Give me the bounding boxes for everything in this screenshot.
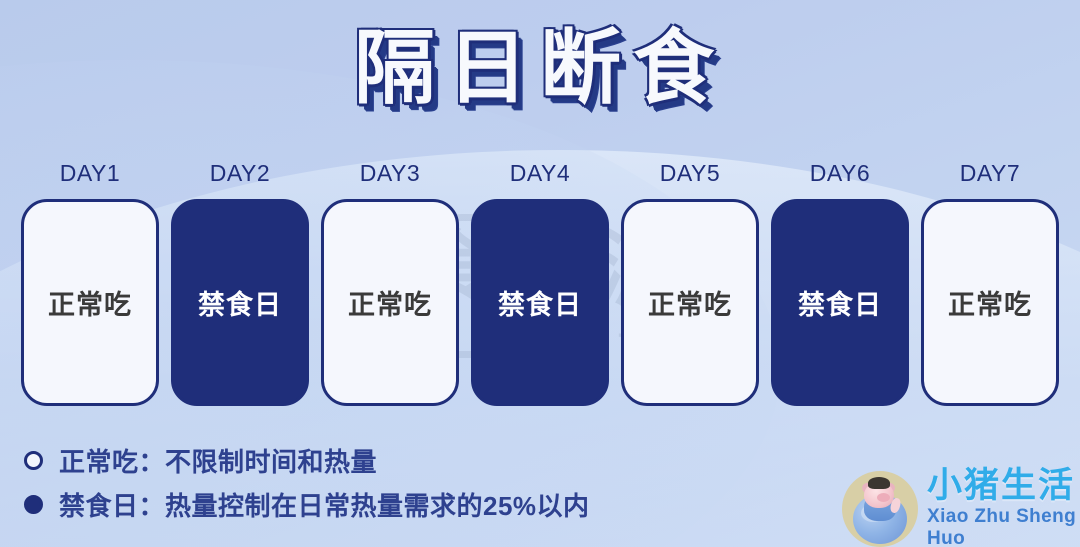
day-column-4: DAY4 禁食日: [471, 160, 609, 406]
day-label: DAY6: [810, 160, 870, 187]
day-card-normal[interactable]: 正常吃: [21, 199, 159, 406]
day-column-2: DAY2 禁食日: [171, 160, 309, 406]
day-column-3: DAY3 正常吃: [321, 160, 459, 406]
day-column-6: DAY6 禁食日: [771, 160, 909, 406]
brand-name-group: 小猪生活 Xiao Zhu Sheng Huo: [927, 468, 1080, 547]
day-card-normal[interactable]: 正常吃: [621, 199, 759, 406]
day-card-fast[interactable]: 禁食日: [171, 199, 309, 406]
day-label: DAY1: [60, 160, 120, 187]
brand-logo[interactable]: 小猪生活 Xiao Zhu Sheng Huo: [842, 468, 1080, 547]
day-column-1: DAY1 正常吃: [21, 160, 159, 406]
day-label: DAY4: [510, 160, 570, 187]
brand-name-cn: 小猪生活: [927, 468, 1080, 505]
day-label: DAY2: [210, 160, 270, 187]
day-column-5: DAY5 正常吃: [621, 160, 759, 406]
brand-name-en: Xiao Zhu Sheng Huo: [927, 506, 1080, 547]
day-column-7: DAY7 正常吃: [921, 160, 1059, 406]
legend: 正常吃：不限制时间和热量 禁食日：热量控制在日常热量需求的25%以内: [24, 438, 590, 526]
legend-text: 禁食日：热量控制在日常热量需求的25%以内: [59, 486, 590, 523]
pig-hair-shape: [868, 477, 890, 489]
weekly-schedule: DAY1 正常吃 DAY2 禁食日 DAY3 正常吃 DAY4 禁食日 DAY5…: [21, 160, 1059, 406]
day-card-normal[interactable]: 正常吃: [321, 199, 459, 406]
page-title: 隔日断食: [0, 24, 1080, 115]
day-label: DAY7: [960, 160, 1020, 187]
legend-row-fast: 禁食日：热量控制在日常热量需求的25%以内: [24, 482, 590, 526]
day-label: DAY5: [660, 160, 720, 187]
day-label: DAY3: [360, 160, 420, 187]
pig-snout-shape: [877, 493, 890, 502]
day-card-fast[interactable]: 禁食日: [771, 199, 909, 406]
day-card-normal[interactable]: 正常吃: [921, 199, 1059, 406]
pig-on-ball-mascot-icon: [842, 471, 918, 547]
filled-circle-icon: [24, 495, 43, 514]
legend-row-normal: 正常吃：不限制时间和热量: [24, 438, 590, 482]
day-card-fast[interactable]: 禁食日: [471, 199, 609, 406]
legend-text: 正常吃：不限制时间和热量: [59, 442, 377, 479]
hollow-circle-icon: [24, 451, 43, 470]
poster-canvas: 食养派 CHEFPLATES 隔日断食 DAY1 正常吃 DAY2 禁食日 DA…: [0, 0, 1080, 547]
